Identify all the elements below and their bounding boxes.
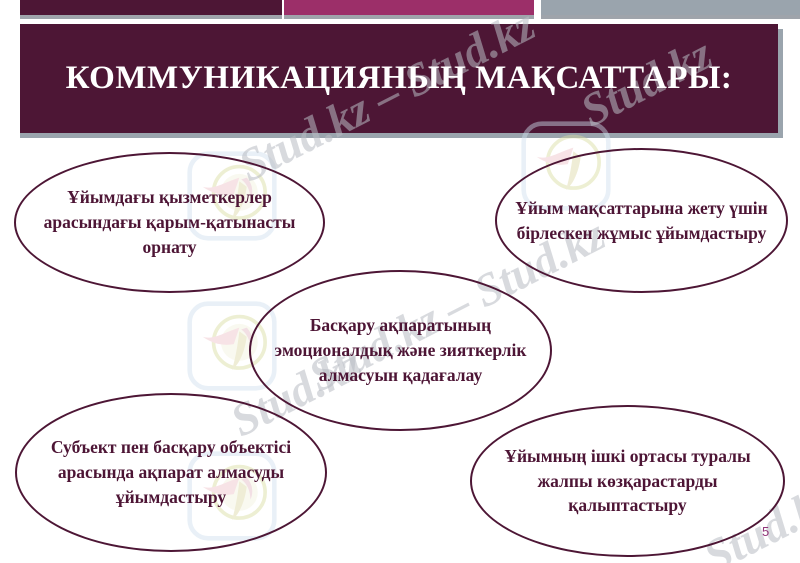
slide-page-number: 5 [762,524,769,539]
ellipse-bottom-right[interactable]: Ұйымның ішкі ортасы туралы жалпы көзқара… [470,405,785,557]
top-decorative-strip [0,0,800,22]
ellipse-top-right[interactable]: Ұйым мақсаттарына жету үшін бірлескен жұ… [495,148,788,293]
strip-segment-gray [541,0,800,15]
ellipse-bottom-left[interactable]: Субъект пен басқару объектісі арасында а… [15,393,327,552]
ellipse-text: Ұйым мақсаттарына жету үшін бірлескен жұ… [497,196,786,246]
ellipse-top-left[interactable]: Ұйымдағы қызметкерлер арасындағы қарым-қ… [14,152,325,293]
ellipse-text: Ұйымдағы қызметкерлер арасындағы қарым-қ… [16,185,323,260]
ellipse-text: Басқару ақпаратының эмоционалдық және зи… [251,313,550,388]
title-band-right-shadow [778,29,783,138]
ellipse-text: Ұйымның ішкі ортасы туралы жалпы көзқара… [472,444,783,519]
strip-shadow [541,15,800,19]
title-band-bottom-shadow [20,133,778,138]
strip-shadow [284,15,534,19]
slide-title-band: КОММУНИКАЦИЯНЫҢ МАҚСАТТАРЫ: [20,24,778,133]
strip-segment-dark-purple [20,0,282,15]
page-title: КОММУНИКАЦИЯНЫҢ МАҚСАТТАРЫ: [66,60,733,97]
strip-segment-magenta [284,0,534,15]
ellipse-center[interactable]: Басқару ақпаратының эмоционалдық және зи… [249,270,552,431]
ellipse-text: Субъект пен басқару объектісі арасында а… [17,435,325,510]
presentation-slide: КОММУНИКАЦИЯНЫҢ МАҚСАТТАРЫ: [0,0,800,563]
strip-shadow [20,15,282,19]
